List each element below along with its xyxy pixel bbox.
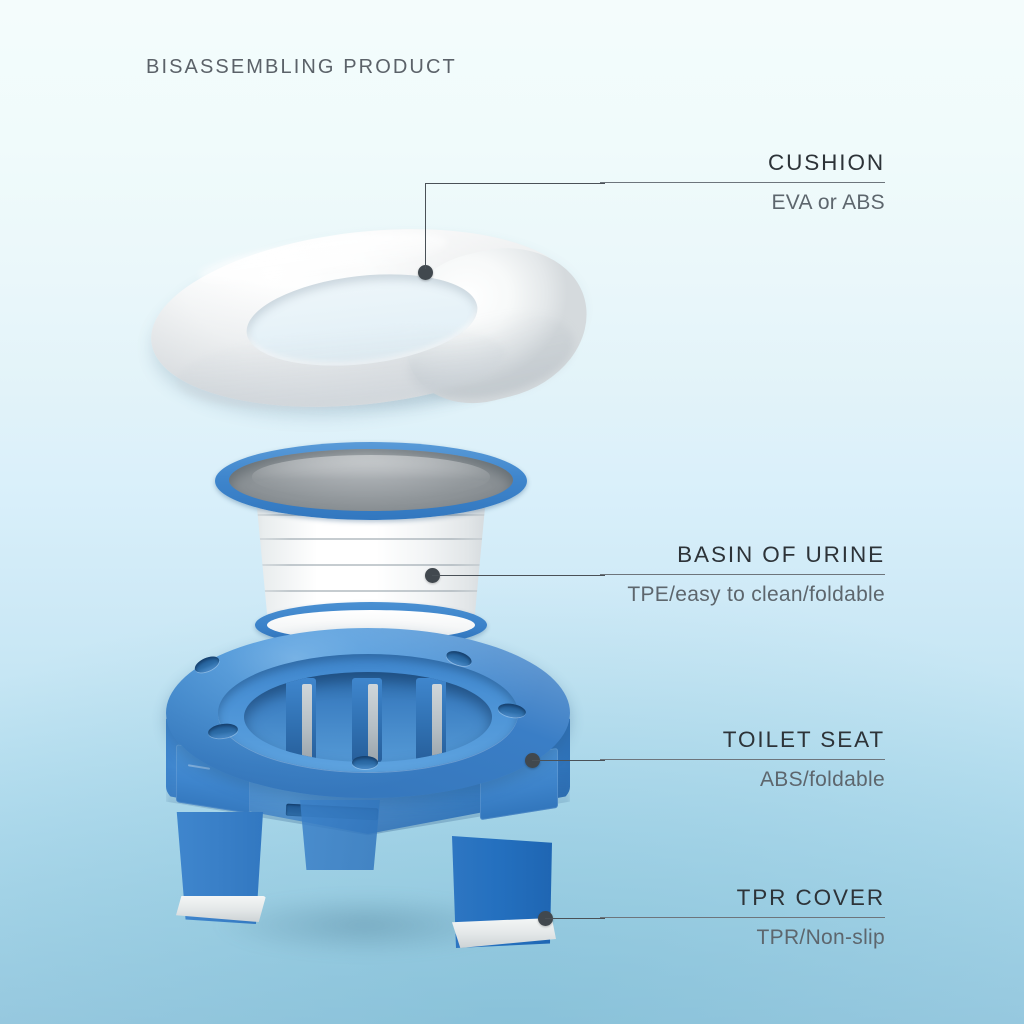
callout-subtitle-toilet-seat: ABS/foldable bbox=[600, 760, 885, 790]
basin-fold-rib bbox=[237, 564, 505, 566]
callout-tpr-cover: TPR COVER TPR/Non-slip bbox=[600, 887, 885, 948]
callout-title-tpr-cover: TPR COVER bbox=[600, 887, 885, 917]
urine-basin-part bbox=[215, 424, 527, 654]
leader-line-toilet-seat bbox=[532, 760, 605, 761]
callout-title-cushion: CUSHION bbox=[600, 152, 885, 182]
seat-hinge-pin bbox=[368, 684, 378, 762]
seat-center-opening bbox=[244, 672, 492, 762]
basin-fold-rib bbox=[237, 590, 505, 592]
callout-subtitle-tpr-cover: TPR/Non-slip bbox=[600, 918, 885, 948]
callout-subtitle-basin: TPE/easy to clean/foldable bbox=[600, 575, 885, 605]
basin-interior bbox=[229, 449, 513, 511]
product-diagram-canvas: BISASSEMBLING PRODUCT CUSHION EVA or ABS… bbox=[0, 0, 1024, 1024]
leader-line-cushion-horizontal bbox=[425, 183, 605, 184]
cushion-part bbox=[150, 232, 590, 422]
leader-line-cushion-vertical bbox=[425, 183, 426, 269]
seat-hinge-pin bbox=[302, 684, 312, 762]
leader-line-basin bbox=[432, 575, 605, 576]
callout-cushion: CUSHION EVA or ABS bbox=[600, 152, 885, 213]
leg-back bbox=[300, 800, 380, 870]
callout-subtitle-cushion: EVA or ABS bbox=[600, 183, 885, 213]
seat-hinge-pin bbox=[432, 684, 442, 762]
callout-title-basin: BASIN OF URINE bbox=[600, 544, 885, 574]
page-title: BISASSEMBLING PRODUCT bbox=[146, 56, 457, 79]
callout-basin-of-urine: BASIN OF URINE TPE/easy to clean/foldabl… bbox=[600, 544, 885, 605]
callout-title-toilet-seat: TOILET SEAT bbox=[600, 729, 885, 759]
callout-toilet-seat: TOILET SEAT ABS/foldable bbox=[600, 729, 885, 790]
seat-vent-hole bbox=[352, 756, 378, 769]
basin-fold-rib bbox=[237, 538, 505, 540]
leader-line-tpr-cover bbox=[545, 918, 605, 919]
basin-blue-rim bbox=[215, 442, 527, 520]
